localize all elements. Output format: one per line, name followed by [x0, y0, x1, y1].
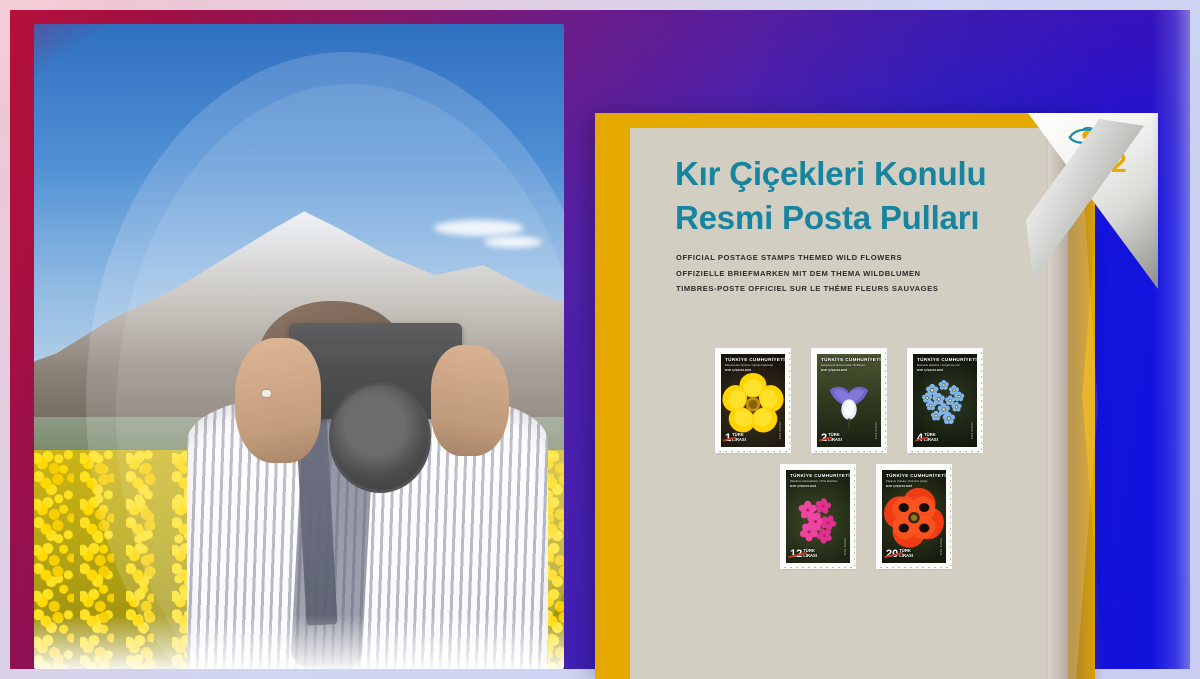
postage-stamp[interactable]: TÜRKİYE CUMHURİYETİCampanula betonicifol…: [813, 350, 885, 451]
stamp-latin-name: Ranunculus illyricus / Illyrian buttercu…: [725, 364, 782, 367]
postage-stamp[interactable]: TÜRKİYE CUMHURİYETİRanunculus illyricus …: [717, 350, 789, 451]
poster-title: Kır Çiçekleri Konulu Resmi Posta Pulları: [675, 152, 1075, 239]
stamp-grid: TÜRKİYE CUMHURİYETİRanunculus illyricus …: [630, 350, 1068, 567]
postage-stamp[interactable]: TÜRKİYE CUMHURİYETİPapaver rhoeas / Comm…: [878, 466, 950, 567]
stamp-currency-line2: LİRASI: [732, 438, 746, 443]
stamp-latin-name: Campanula betonicifolia / Bellflower: [821, 364, 878, 367]
stamp-artwork: TÜRKİYE CUMHURİYETİDianthus calocephalus…: [786, 470, 850, 563]
stamp-currency-line2: LİRASI: [899, 554, 913, 559]
stamp-latin-name: Myosotis alpestris / Forget-me-not: [917, 364, 974, 367]
stamp-value: 20: [886, 550, 898, 559]
subtitle-english: OFFICIAL POSTAGE STAMPS THEMED WILD FLOW…: [676, 250, 1095, 266]
cloud-shape: [434, 220, 524, 236]
stamp-country: TÜRKİYE CUMHURİYETİ: [725, 357, 782, 362]
poster-title-line2: Resmi Posta Pulları: [675, 196, 1075, 240]
stamp-artwork: TÜRKİYE CUMHURİYETİMyosotis alpestris / …: [913, 354, 977, 447]
subtitle-german: OFFIZIELLE BRIEFMARKEN MIT DEM THEMA WIL…: [676, 266, 1095, 282]
stamp-header: TÜRKİYE CUMHURİYETİDianthus calocephalus…: [790, 473, 847, 488]
stamp-denomination: 20 TÜRK LİRASI: [886, 549, 913, 559]
stamp-denomination: 1 TÜRK LİRASI: [725, 433, 746, 443]
stamp-country: TÜRKİYE CUMHURİYETİ: [886, 473, 943, 478]
stamp-theme: KIR ÇİÇEKLERİ: [886, 484, 943, 488]
stamp-artwork: TÜRKİYE CUMHURİYETİRanunculus illyricus …: [721, 354, 785, 447]
stamp-side-text: POSTA 2021: [939, 538, 942, 556]
stamp-value: 2: [821, 434, 827, 443]
stamp-value: 1: [725, 434, 731, 443]
stamp-artwork: TÜRKİYE CUMHURİYETİCampanula betonicifol…: [817, 354, 881, 447]
stamp-theme: KIR ÇİÇEKLERİ: [821, 368, 878, 372]
stamp-latin-name: Papaver rhoeas / Common poppy: [886, 480, 943, 483]
poster-stage: Kır Çiçekleri Konulu Resmi Posta Pulları…: [0, 0, 1200, 679]
stamp-poster: Kır Çiçekleri Konulu Resmi Posta Pulları…: [595, 113, 1095, 679]
photograph-image: [34, 24, 564, 669]
stamp-theme: KIR ÇİÇEKLERİ: [917, 368, 974, 372]
stamp-header: TÜRKİYE CUMHURİYETİRanunculus illyricus …: [725, 357, 782, 372]
stamp-currency-line2: LİRASI: [924, 438, 938, 443]
stamp-currency-line2: LİRASI: [803, 554, 817, 559]
stamp-currency: TÜRK LİRASI: [899, 549, 913, 559]
stamp-header: TÜRKİYE CUMHURİYETİPapaver rhoeas / Comm…: [886, 473, 943, 488]
left-hand: [235, 338, 321, 463]
stamp-country: TÜRKİYE CUMHURİYETİ: [917, 357, 974, 362]
stamp-denomination: 2 TÜRK LİRASI: [821, 433, 842, 443]
stamp-value: 12: [790, 550, 802, 559]
postage-stamp[interactable]: TÜRKİYE CUMHURİYETİDianthus calocephalus…: [782, 466, 854, 567]
stamp-country: TÜRKİYE CUMHURİYETİ: [790, 473, 847, 478]
stamp-theme: KIR ÇİÇEKLERİ: [790, 484, 847, 488]
poster-inner-panel: Kır Çiçekleri Konulu Resmi Posta Pulları…: [630, 128, 1068, 679]
stamp-country: TÜRKİYE CUMHURİYETİ: [821, 357, 878, 362]
right-hand: [431, 345, 509, 455]
stamp-side-text: POSTA 2021: [874, 422, 877, 440]
stamp-value: 4: [917, 434, 923, 443]
stamp-latin-name: Dianthus calocephalus / Pink dianthus: [790, 480, 847, 483]
stamp-currency-line2: LİRASI: [828, 438, 842, 443]
stamp-header: TÜRKİYE CUMHURİYETİMyosotis alpestris / …: [917, 357, 974, 372]
stamp-header: TÜRKİYE CUMHURİYETİCampanula betonicifol…: [821, 357, 878, 372]
stamp-denomination: 4 TÜRK LİRASI: [917, 433, 938, 443]
stamp-row-2: TÜRKİYE CUMHURİYETİDianthus calocephalus…: [630, 466, 1068, 567]
camera-lens: [329, 382, 431, 492]
stamp-row-1: TÜRKİYE CUMHURİYETİRanunculus illyricus …: [630, 350, 1068, 451]
finger-ring: [262, 390, 271, 397]
stamp-artwork: TÜRKİYE CUMHURİYETİPapaver rhoeas / Comm…: [882, 470, 946, 563]
stamp-side-text: POSTA 2021: [778, 422, 781, 440]
subtitle-french: TIMBRES-POSTE OFFICIEL SUR LE THÈME FLEU…: [676, 281, 1095, 297]
photo-bottom-fade: [34, 615, 564, 669]
stamp-theme: KIR ÇİÇEKLERİ: [725, 368, 782, 372]
stamp-currency: TÜRK LİRASI: [803, 549, 817, 559]
poster-title-line1: Kır Çiçekleri Konulu: [675, 152, 1075, 196]
stamp-denomination: 12 TÜRK LİRASI: [790, 549, 817, 559]
postage-stamp[interactable]: TÜRKİYE CUMHURİYETİMyosotis alpestris / …: [909, 350, 981, 451]
cloud-shape: [484, 236, 542, 248]
photographer-figure: [172, 301, 564, 669]
photograph-panel: [34, 24, 564, 669]
stamp-side-text: POSTA 2021: [970, 422, 973, 440]
stamp-side-text: POSTA 2021: [843, 538, 846, 556]
poster-subtitles: OFFICIAL POSTAGE STAMPS THEMED WILD FLOW…: [676, 250, 1095, 297]
